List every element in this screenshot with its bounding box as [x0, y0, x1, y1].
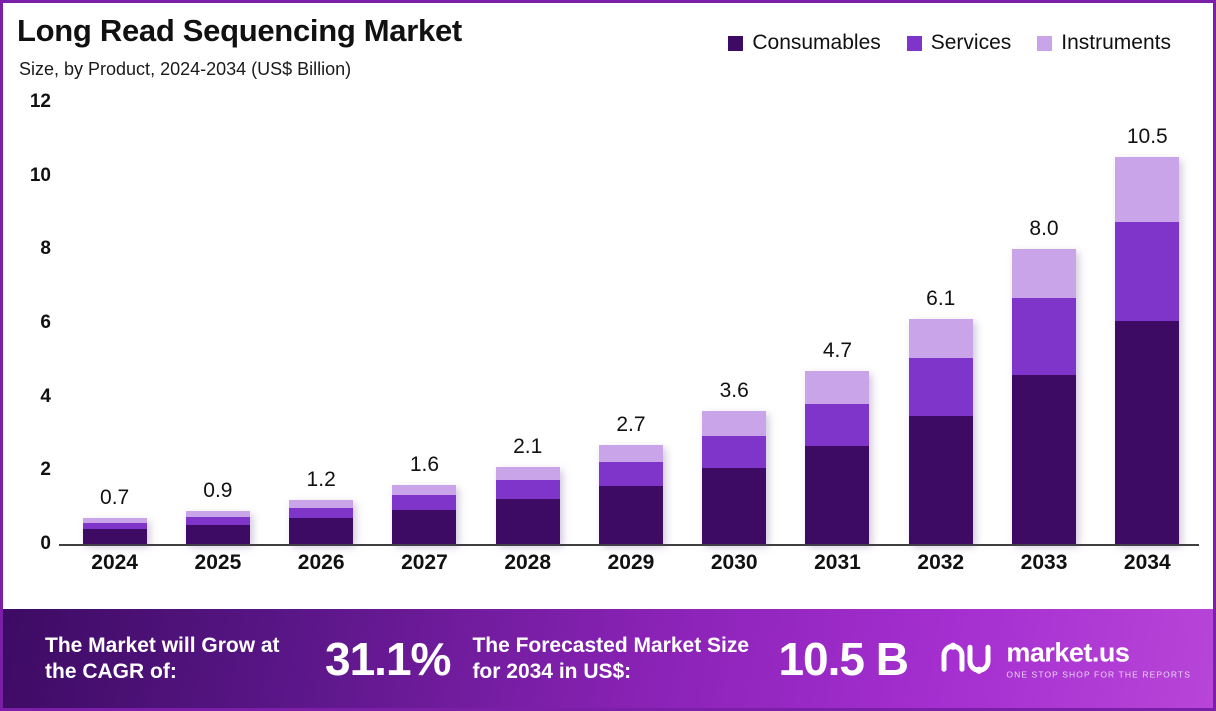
legend-swatch-icon [728, 36, 743, 51]
brand-tagline: ONE STOP SHOP FOR THE REPORTS [1006, 670, 1191, 679]
y-axis-tick-label: 6 [40, 312, 51, 334]
bar-value-label: 0.9 [203, 479, 232, 503]
x-axis-line [59, 544, 1199, 546]
y-axis-tick-label: 8 [40, 238, 51, 260]
bar-segment-consumables [1012, 375, 1076, 544]
bar-column-2024[interactable]: 0.7 [63, 89, 166, 544]
bar-column-2025[interactable]: 0.9 [166, 89, 269, 544]
bar-segment-services [392, 495, 456, 509]
bar-segment-instruments [1012, 249, 1076, 298]
bar-segment-consumables [186, 525, 250, 544]
bar-segment-consumables [702, 468, 766, 544]
bar-segment-instruments [496, 467, 560, 481]
bar-segment-instruments [805, 371, 869, 404]
bar-stack[interactable] [83, 518, 147, 544]
y-axis-tick-label: 12 [30, 91, 51, 113]
bar-column-2033[interactable]: 8.0 [992, 89, 1095, 544]
footer-banner: The Market will Grow at the CAGR of: 31.… [3, 609, 1213, 708]
bar-segment-consumables [599, 486, 663, 544]
chart-legend: ConsumablesServicesInstruments [728, 31, 1171, 55]
bar-column-2028[interactable]: 2.1 [476, 89, 579, 544]
bar-segment-services [1115, 222, 1179, 321]
x-axis-tick-label: 2025 [166, 551, 269, 591]
bar-segment-consumables [392, 510, 456, 544]
y-axis-labels: 024681012 [3, 89, 59, 549]
bar-segment-services [805, 404, 869, 446]
bar-column-2029[interactable]: 2.7 [579, 89, 682, 544]
bar-stack[interactable] [1115, 157, 1179, 544]
bar-segment-services [599, 462, 663, 486]
x-axis-tick-label: 2028 [476, 551, 579, 591]
legend-label: Consumables [752, 31, 880, 55]
legend-label: Instruments [1061, 31, 1171, 55]
bar-segment-consumables [289, 518, 353, 544]
bar-segment-consumables [496, 499, 560, 544]
bar-column-2030[interactable]: 3.6 [683, 89, 786, 544]
x-axis-tick-label: 2032 [889, 551, 992, 591]
bar-segment-services [702, 436, 766, 468]
bar-group: 0.70.91.21.62.12.73.64.76.18.010.5 [63, 89, 1199, 544]
legend-item-consumables[interactable]: Consumables [728, 31, 880, 55]
cagr-caption: The Market will Grow at the CAGR of: [45, 633, 315, 684]
bar-value-label: 2.1 [513, 435, 542, 459]
chart-plot-area: 024681012 0.70.91.21.62.12.73.64.76.18.0… [3, 89, 1213, 609]
bar-value-label: 10.5 [1127, 125, 1168, 149]
bar-stack[interactable] [805, 371, 869, 544]
bar-stack[interactable] [496, 467, 560, 544]
bar-segment-services [496, 480, 560, 499]
legend-item-services[interactable]: Services [907, 31, 1012, 55]
bar-column-2034[interactable]: 10.5 [1096, 89, 1199, 544]
bar-stack[interactable] [392, 485, 456, 544]
bar-column-2026[interactable]: 1.2 [270, 89, 373, 544]
bar-value-label: 1.2 [307, 468, 336, 492]
y-axis-tick-label: 0 [40, 533, 51, 555]
bar-column-2027[interactable]: 1.6 [373, 89, 476, 544]
brand-name: market.us [1006, 639, 1191, 666]
legend-label: Services [931, 31, 1012, 55]
x-axis-tick-label: 2031 [786, 551, 889, 591]
bar-value-label: 2.7 [616, 413, 645, 437]
bar-stack[interactable] [702, 411, 766, 544]
x-axis-tick-label: 2030 [683, 551, 786, 591]
bar-value-label: 4.7 [823, 339, 852, 363]
cagr-value: 31.1% [325, 632, 450, 686]
x-axis-tick-label: 2026 [270, 551, 373, 591]
legend-swatch-icon [1037, 36, 1052, 51]
bar-segment-services [1012, 298, 1076, 374]
bar-value-label: 0.7 [100, 486, 129, 510]
bar-value-label: 6.1 [926, 287, 955, 311]
bar-segment-services [186, 517, 250, 525]
y-axis-tick-label: 4 [40, 386, 51, 408]
legend-item-instruments[interactable]: Instruments [1037, 31, 1171, 55]
x-axis-tick-label: 2027 [373, 551, 476, 591]
market-us-logo-icon [940, 640, 994, 678]
bar-segment-instruments [392, 485, 456, 495]
bar-stack[interactable] [599, 445, 663, 544]
bar-stack[interactable] [289, 500, 353, 544]
bar-segment-consumables [83, 529, 147, 544]
bar-segment-instruments [289, 500, 353, 508]
bar-segment-instruments [909, 319, 973, 358]
y-axis-tick-label: 10 [30, 165, 51, 187]
bar-segment-instruments [599, 445, 663, 463]
forecast-value: 10.5 B [778, 632, 908, 686]
brand-text: market.us ONE STOP SHOP FOR THE REPORTS [1006, 639, 1191, 679]
bar-stack[interactable] [1012, 249, 1076, 544]
x-axis-tick-label: 2034 [1096, 551, 1199, 591]
bar-segment-instruments [1115, 157, 1179, 221]
x-axis-tick-label: 2033 [992, 551, 1095, 591]
x-axis-tick-label: 2029 [579, 551, 682, 591]
x-axis-tick-label: 2024 [63, 551, 166, 591]
chart-subtitle: Size, by Product, 2024-2034 (US$ Billion… [19, 59, 351, 80]
brand-logo[interactable]: market.us ONE STOP SHOP FOR THE REPORTS [940, 639, 1191, 679]
bar-stack[interactable] [186, 511, 250, 544]
bar-segment-instruments [702, 411, 766, 436]
bar-segment-consumables [805, 446, 869, 544]
bar-stack[interactable] [909, 319, 973, 544]
bar-segment-services [289, 508, 353, 519]
legend-swatch-icon [907, 36, 922, 51]
y-axis-tick-label: 2 [40, 459, 51, 481]
bar-column-2032[interactable]: 6.1 [889, 89, 992, 544]
bar-value-label: 1.6 [410, 453, 439, 477]
bar-value-label: 8.0 [1029, 217, 1058, 241]
chart-header: Long Read Sequencing Market Size, by Pro… [3, 3, 1213, 89]
bar-segment-consumables [909, 416, 973, 544]
page-title: Long Read Sequencing Market [17, 13, 462, 49]
bar-value-label: 3.6 [720, 379, 749, 403]
x-axis-labels: 2024202520262027202820292030203120322033… [63, 551, 1199, 591]
bar-column-2031[interactable]: 4.7 [786, 89, 889, 544]
bar-segment-consumables [1115, 321, 1179, 544]
forecast-caption: The Forecasted Market Size for 2034 in U… [472, 633, 772, 684]
infographic-card: Long Read Sequencing Market Size, by Pro… [0, 0, 1216, 711]
bar-segment-services [909, 358, 973, 416]
